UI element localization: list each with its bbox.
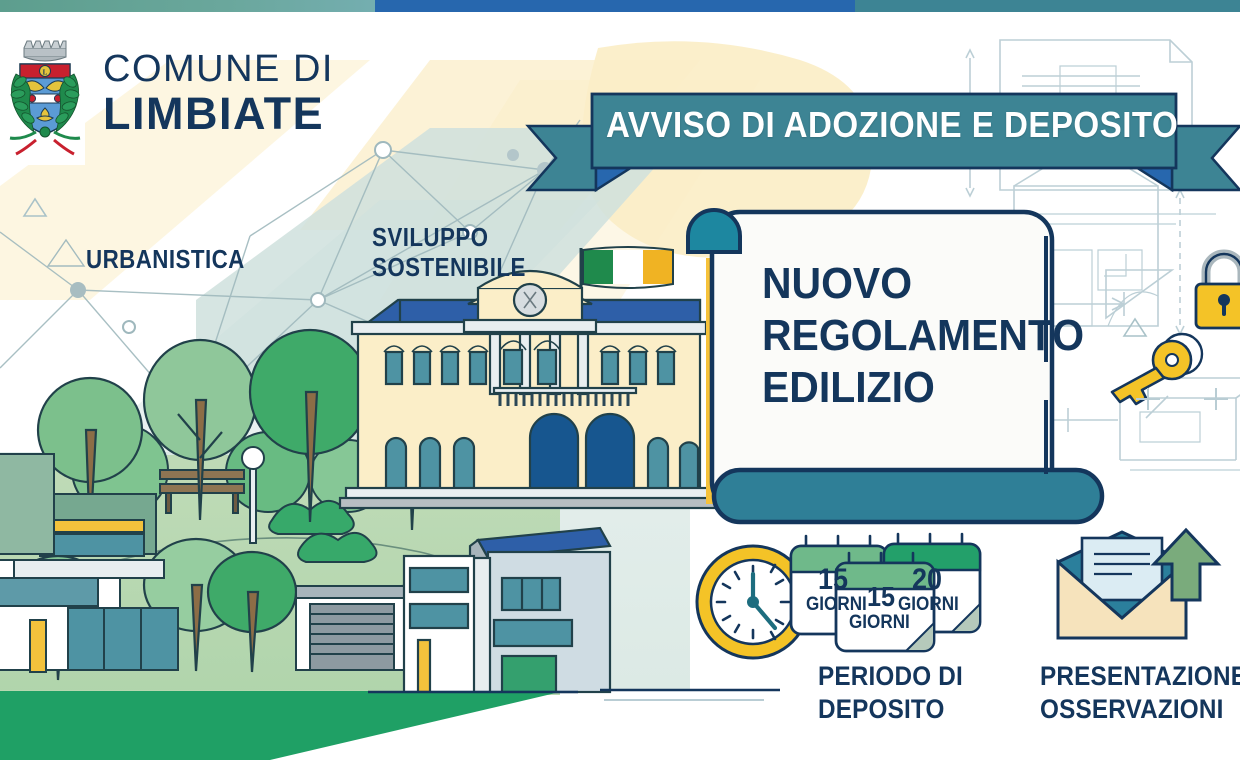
brand-line-1: COMUNE DI <box>103 48 334 90</box>
scroll-headline-line-3: EDILIZIO <box>762 362 1078 414</box>
calendar-15-back-number: 15 <box>818 563 848 597</box>
calendar-15-front-number: 15 <box>867 581 895 613</box>
calendar-15-front-unit: GIORNI <box>849 612 910 634</box>
top-color-strip <box>0 0 1240 12</box>
label-sviluppo-line-2: SOSTENIBILE <box>372 252 526 282</box>
shutter-building <box>296 586 416 670</box>
scroll-headline-line-2: REGOLAMENTO <box>762 310 1078 362</box>
ribbon-label: AVVISO DI ADOZIONE E DEPOSITO <box>606 104 1140 154</box>
poster-canvas: L <box>0 0 1240 760</box>
crest-logo: L <box>4 26 86 166</box>
brand-line-2: LIMBIATE <box>103 90 334 138</box>
scroll-headline: NUOVO REGOLAMENTO EDILIZIO <box>762 258 1078 414</box>
label-sviluppo-sostenibile: SVILUPPO SOSTENIBILE <box>372 222 526 282</box>
label-urbanistica: URBANISTICA <box>86 244 245 275</box>
caption-deposito-line-2: DEPOSITO <box>818 693 963 726</box>
caption-osservazioni-line-1: PRESENTAZIONE <box>1040 660 1240 693</box>
scroll-headline-line-1: NUOVO <box>762 258 1078 310</box>
caption-osservazioni-line-2: OSSERVAZIONI <box>1040 693 1240 726</box>
caption-presentazione-osservazioni: PRESENTAZIONE OSSERVAZIONI <box>1040 660 1240 726</box>
brand-title: COMUNE DI LIMBIATE <box>103 48 334 138</box>
label-sviluppo-line-1: SVILUPPO <box>372 222 526 252</box>
strip-segment-teal-green <box>0 0 375 12</box>
caption-deposito-line-1: PERIODO DI <box>818 660 963 693</box>
strip-segment-blue <box>375 0 855 12</box>
strip-segment-teal <box>855 0 1240 12</box>
calendar-20-back-number: 20 <box>912 563 942 597</box>
caption-periodo-deposito: PERIODO DI DEPOSITO <box>818 660 963 726</box>
svg-text:L: L <box>43 69 48 77</box>
